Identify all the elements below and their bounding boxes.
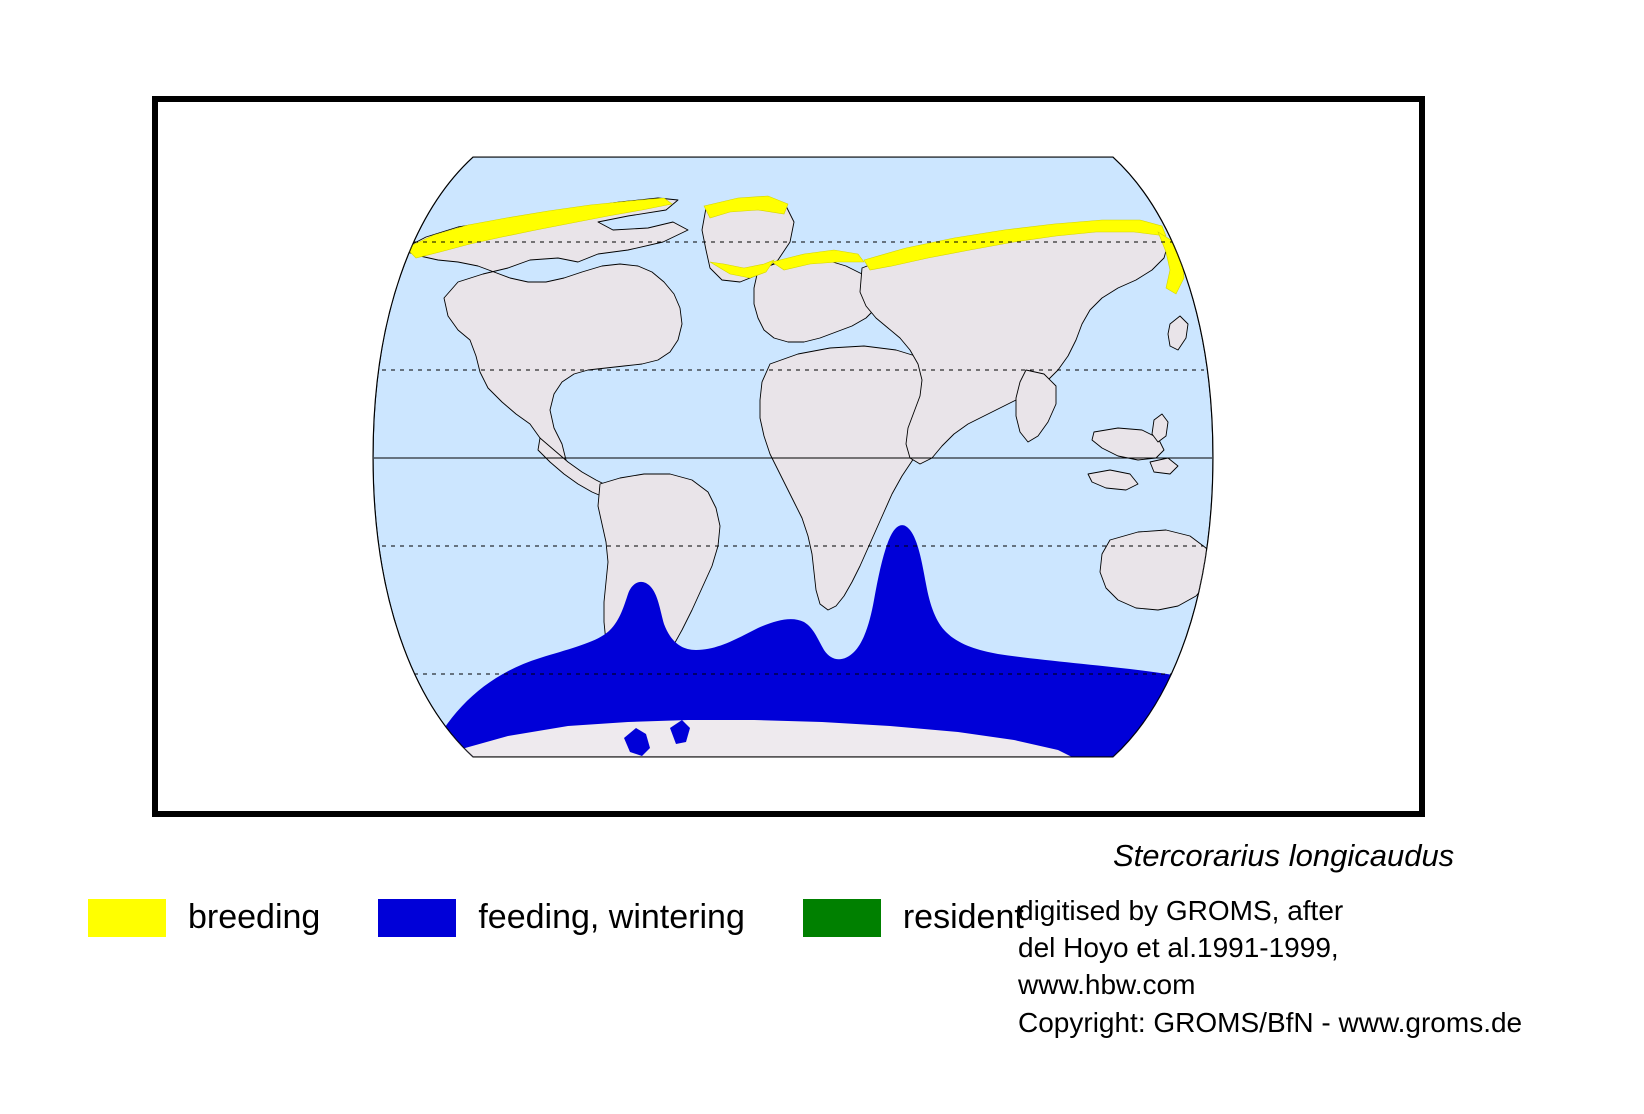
credit-line-4: Copyright: GROMS/BfN - www.groms.de bbox=[1018, 1004, 1618, 1041]
legend-label-resident: resident bbox=[903, 898, 1024, 937]
legend-item-resident: resident bbox=[803, 898, 1024, 937]
species-name: Stercorarius longicaudus bbox=[1113, 838, 1618, 874]
legend-swatch-resident bbox=[803, 899, 881, 937]
legend-swatch-feeding-wintering bbox=[378, 899, 456, 937]
legend-label-feeding-wintering: feeding, wintering bbox=[478, 898, 745, 937]
legend-swatch-breeding bbox=[88, 899, 166, 937]
world-distribution-map bbox=[158, 102, 1419, 811]
legend: breeding feeding, wintering resident bbox=[88, 898, 1024, 937]
credit-line-3: www.hbw.com bbox=[1018, 966, 1618, 1003]
legend-item-feeding-wintering: feeding, wintering bbox=[378, 898, 745, 937]
map-frame: 0 Kilometers 6000 bbox=[152, 96, 1425, 817]
legend-item-breeding: breeding bbox=[88, 898, 320, 937]
attribution-block: Stercorarius longicaudus digitised by GR… bbox=[1018, 838, 1618, 1041]
legend-label-breeding: breeding bbox=[188, 898, 320, 937]
credit-line-1: digitised by GROMS, after bbox=[1018, 892, 1618, 929]
credit-line-2: del Hoyo et al.1991-1999, bbox=[1018, 929, 1618, 966]
